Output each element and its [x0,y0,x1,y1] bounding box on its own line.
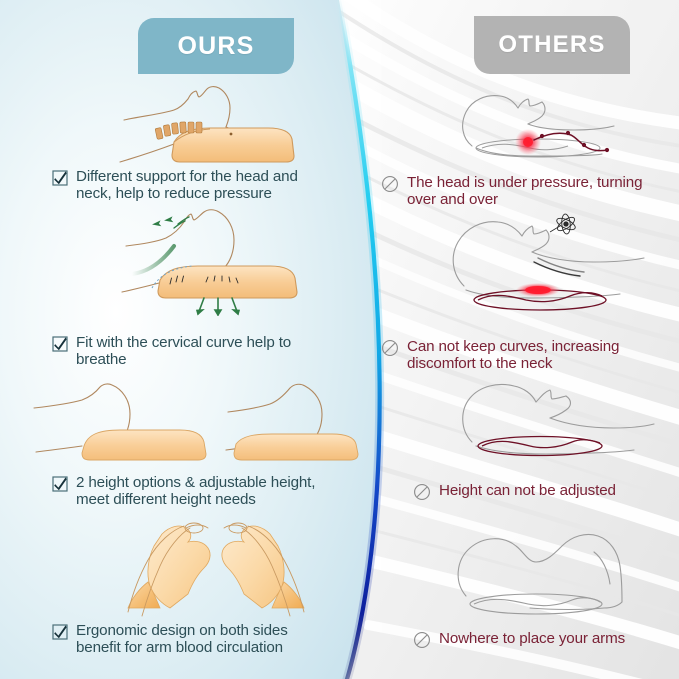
bullet-nowhere-for-arms: Nowhere to place your arms [413,630,653,649]
illustration-flat-pillow-neck-strain-red-spot [438,212,664,322]
bullet-head-under-pressure: The head is under pressure, turning over… [381,174,651,209]
bullet-text: Ergonomic design on both sides benefit f… [76,622,288,657]
prohibited-icon [413,483,431,501]
checkbox-checked-icon [52,476,68,492]
prohibited-icon [381,175,399,193]
bullet-text: Different support for the head and neck,… [76,168,298,203]
bullet-ergonomic-design: Ergonomic design on both sides benefit f… [52,622,332,657]
others-badge: OTHERS [474,16,630,74]
illustration-two-height-pillow-pair [30,382,360,472]
bullet-text: 2 height options & adjustable height, me… [76,474,315,509]
bullet-height-options: 2 height options & adjustable height, me… [52,474,352,509]
bullet-text: Height can not be adjusted [439,482,616,499]
illustration-flat-pillow-pressure-point-spine [442,88,662,170]
bullet-different-support: Different support for the head and neck,… [52,168,324,203]
bullet-text: Fit with the cervical curve help to brea… [76,334,291,369]
bullet-text: Nowhere to place your arms [439,630,625,647]
bullet-height-not-adjustable: Height can not be adjusted [413,482,653,501]
bullet-cervical-curve: Fit with the cervical curve help to brea… [52,334,324,369]
bullet-text: The head is under pressure, turning over… [407,174,642,209]
ours-badge-label: OURS [177,32,254,61]
checkbox-checked-icon [52,624,68,640]
illustration-flat-pillow-no-curve-support [448,380,668,470]
pillow-comparison-infographic: OURS OTHERS Different support for the he… [0,0,679,679]
ours-badge: OURS [138,18,294,74]
checkbox-checked-icon [52,336,68,352]
bullet-text: Can not keep curves, increasing discomfo… [407,338,619,373]
illustration-side-sleeper-supported-pillow [118,84,330,168]
illustration-ergonomic-arm-cutout-pillow-top-view [100,512,332,620]
illustration-airflow-breathing-pillow [118,204,330,316]
illustration-flat-pillow-no-arm-space [444,528,670,626]
others-badge-label: OTHERS [498,31,605,59]
prohibited-icon [381,339,399,357]
bullet-cannot-keep-curves: Can not keep curves, increasing discomfo… [381,338,653,373]
prohibited-icon [413,631,431,649]
checkbox-checked-icon [52,170,68,186]
